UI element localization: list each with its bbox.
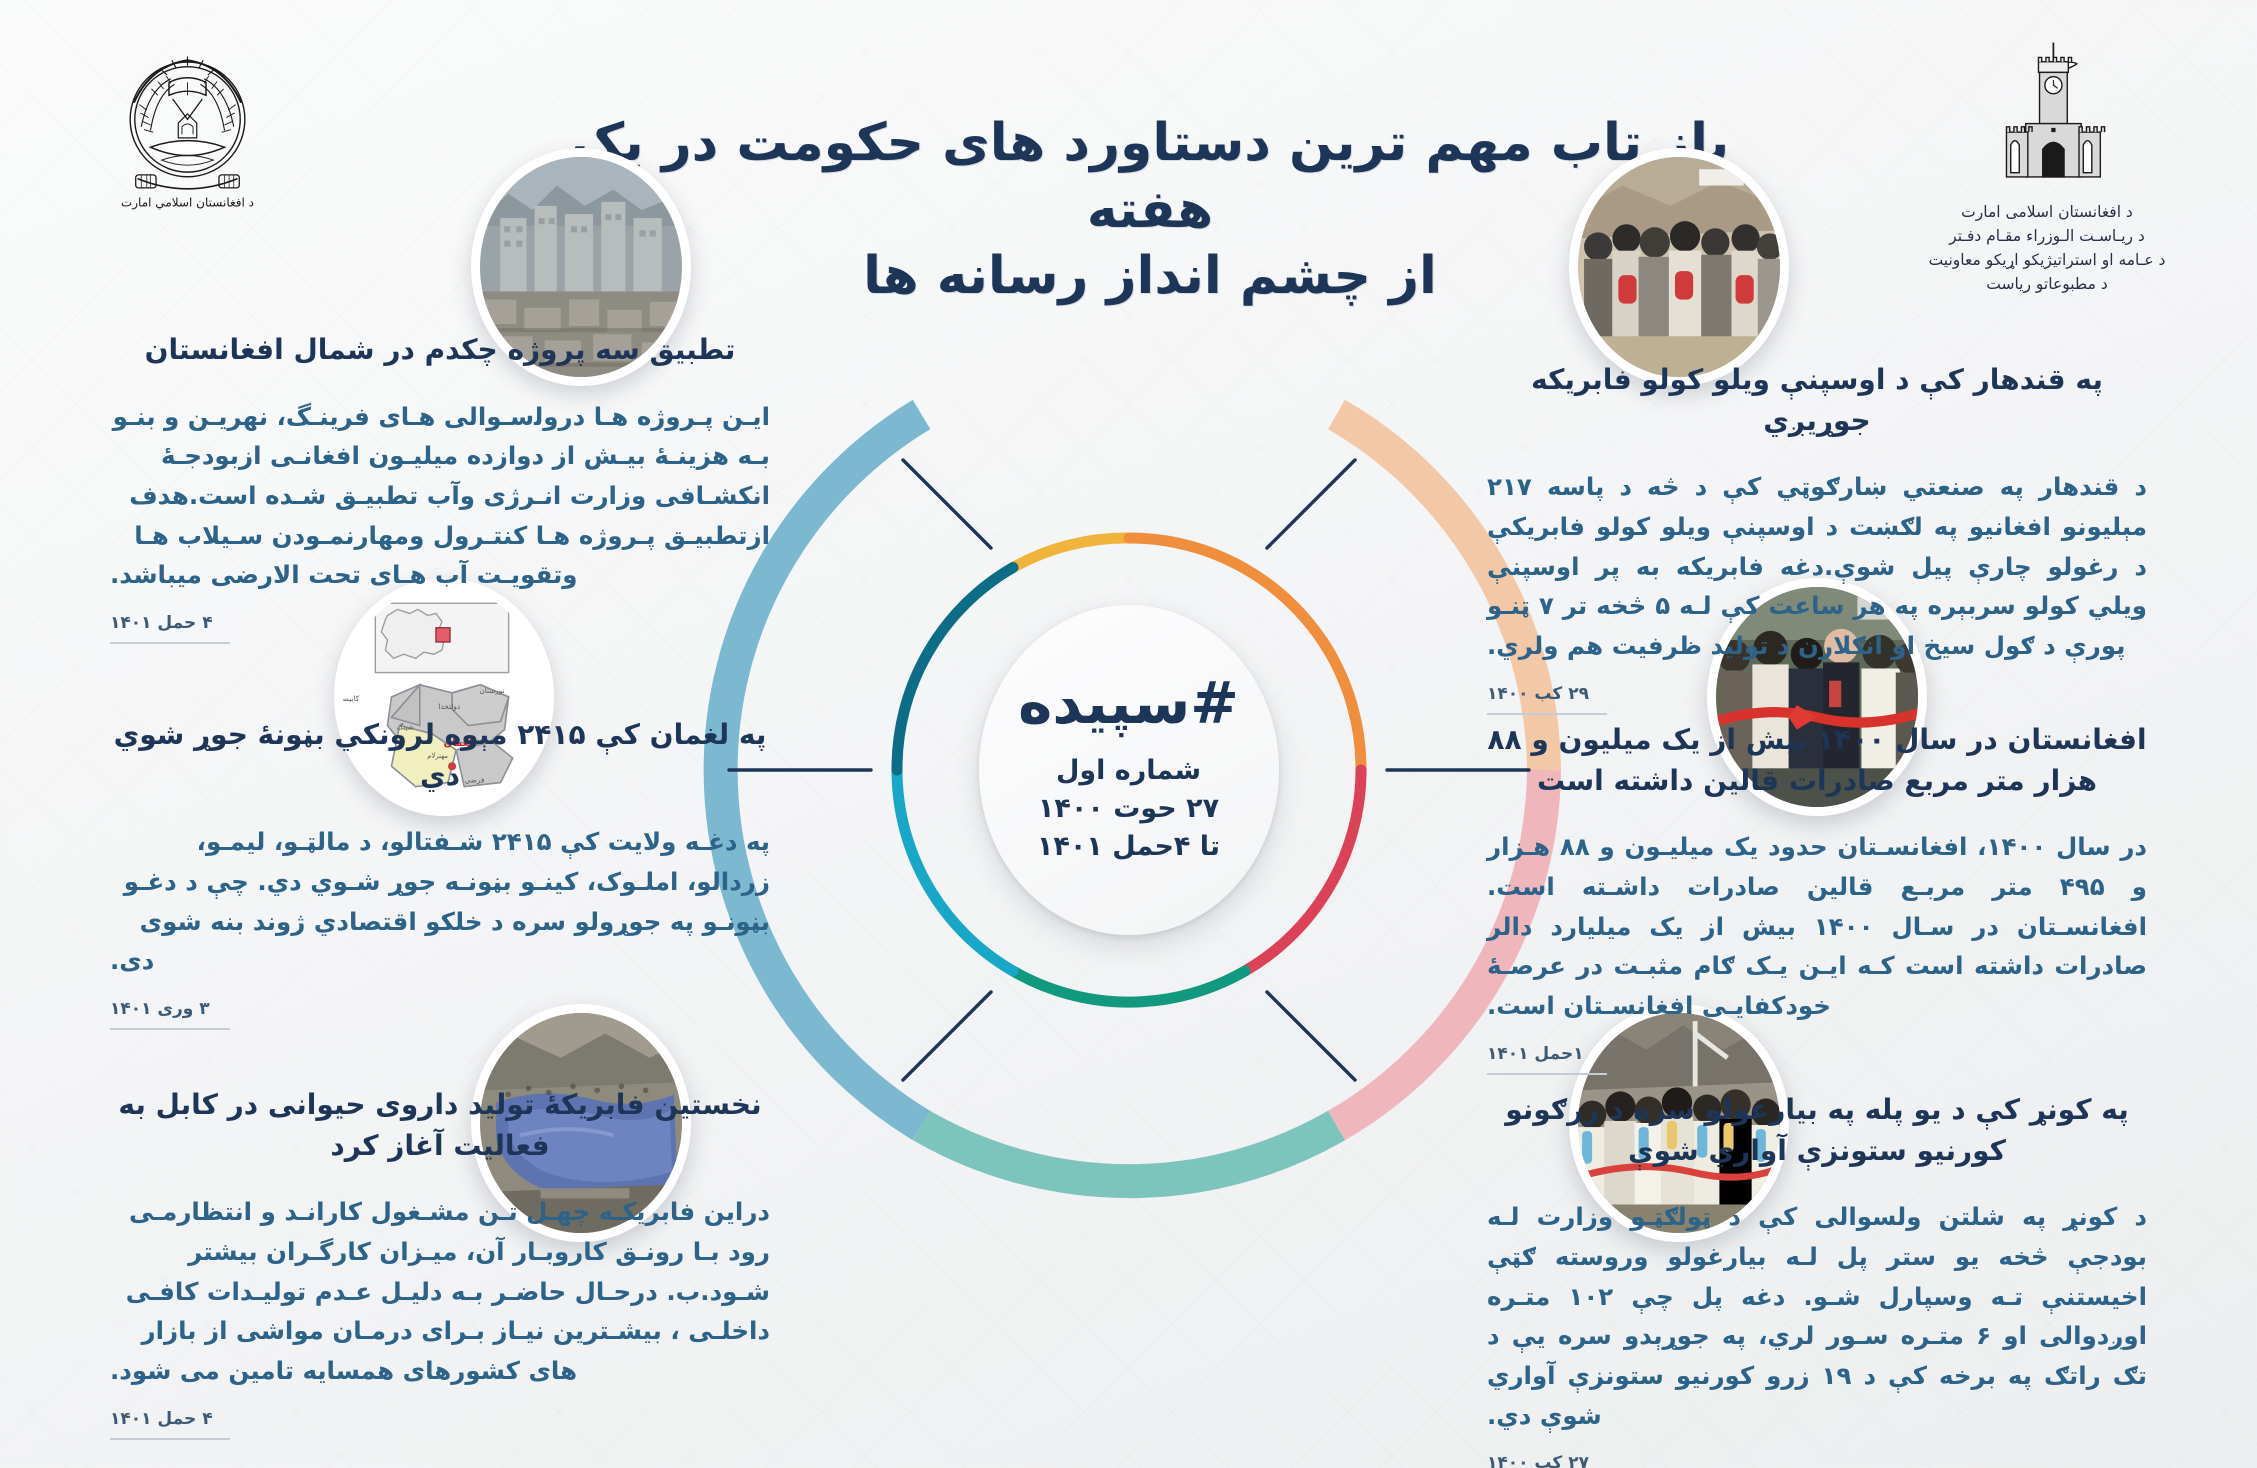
article-date: ۲۹ کب ۱۴۰۰ xyxy=(1487,684,1607,715)
date-to-label: تا ۴حمل ۱۴۰۱ xyxy=(1037,828,1220,866)
article-date: ۴ حمل ۱۴۰۱ xyxy=(110,613,230,644)
article-date: ۴ حمل ۱۴۰۱ xyxy=(110,1409,230,1440)
article-title: نخستین فابریکۀ تولید داروی حیوانی در کاب… xyxy=(110,1085,770,1166)
gov-line-2: د ریـاسـت الـوزراء مقـام دفـتر xyxy=(1897,224,2197,248)
article-title: په قندهار کې د اوسپنې ویلو کولو فابریکه … xyxy=(1487,360,2147,441)
article-top-left: تطبیق سه پروژه چکدم در شمال افغانستان ای… xyxy=(110,330,770,644)
article-date-wrap: ۱حمل ۱۴۰۱ xyxy=(1487,1026,2147,1075)
gov-line-4: د مطبوعاتو ریاست xyxy=(1897,272,2197,296)
svg-text:دولتخدا: دولتخدا xyxy=(438,702,460,711)
article-middle-left: په لغمان کې ۲۴۱۵ مېوه لرونکي بڼونۀ جوړ ش… xyxy=(110,715,770,1030)
wheel-hub: #سپیده شماره اول ۲۷ حوت ۱۴۰۰ تا ۴حمل ۱۴۰… xyxy=(979,605,1279,935)
article-title: په کونړ کې د یو پله په بیارغولو سره د زر… xyxy=(1487,1090,2147,1171)
article-date: ۱حمل ۱۴۰۱ xyxy=(1487,1044,1607,1075)
article-body: دراین فابریکـه چهـل تـن مشـغول کارانـد و… xyxy=(110,1192,770,1390)
svg-text:د افغانستان اسلامي امارت: د افغانستان اسلامي امارت xyxy=(121,195,254,210)
article-title: په لغمان کې ۲۴۱۵ مېوه لرونکي بڼونۀ جوړ ش… xyxy=(110,715,770,796)
article-body: په دغـه ولایت کې ۲۴۱۵ شـفتالو، د مالټـو،… xyxy=(110,822,770,981)
article-date-wrap: ۴ حمل ۱۴۰۱ xyxy=(110,1391,770,1440)
article-date-wrap: ۲۹ کب ۱۴۰۰ xyxy=(1487,666,2147,715)
article-date-wrap: ۳ وری ۱۴۰۱ xyxy=(110,981,770,1030)
article-date: ۲۷ کب ۱۴۰۰ xyxy=(1487,1453,1607,1468)
article-title: تطبیق سه پروژه چکدم در شمال افغانستان xyxy=(110,330,770,371)
government-office-lines: د افغانستان اسلامی امارت د ریـاسـت الـوز… xyxy=(1897,200,2197,296)
article-body: د قندهار په صنعتي ښارګوټي کې د څه د پاسه… xyxy=(1487,467,2147,665)
hashtag-label: #سپیده xyxy=(1018,674,1239,732)
svg-text:نورستان: نورستان xyxy=(479,686,504,695)
article-body: در سال ۱۴۰۰، افغانسـتان حدود یک میلیـون … xyxy=(1487,827,2147,1025)
ceremony-group-photo xyxy=(1578,157,1780,377)
government-office-logo: د افغانستان اسلامی امارت د ریـاسـت الـوز… xyxy=(1897,34,2197,296)
article-middle-right: افغانستان در سال ۱۴۰۰ بیش از یک میلیون و… xyxy=(1487,720,2147,1075)
svg-text:کاپیسا: کاپیسا xyxy=(343,694,360,703)
issue-label: شماره اول xyxy=(1056,752,1201,790)
arg-gate-icon xyxy=(1982,34,2112,194)
article-body: د کونړ په شلتن ولسوالی کې د ټولګټـو وزار… xyxy=(1487,1197,2147,1435)
article-body: ایـن پـروژه هـا دروﻟسـوالی هـای فرینـگ، … xyxy=(110,397,770,595)
afghanistan-islamic-emirate-emblem: د افغانستان اسلامي امارت xyxy=(95,38,280,223)
article-title: افغانستان در سال ۱۴۰۰ بیش از یک میلیون و… xyxy=(1487,720,2147,801)
photo-node-ceremony-group[interactable] xyxy=(1569,148,1789,386)
date-from-label: ۲۷ حوت ۱۴۰۰ xyxy=(1038,790,1219,828)
central-wheel-diagram: #سپیده شماره اول ۲۷ حوت ۱۴۰۰ تا ۴حمل ۱۴۰… xyxy=(619,260,1639,1280)
article-top-right: په قندهار کې د اوسپنې ویلو کولو فابریکه … xyxy=(1487,360,2147,715)
gov-line-3: د عـامه او استراتیژیکو اړیکو معاونیت xyxy=(1897,248,2197,272)
article-date-wrap: ۲۷ کب ۱۴۰۰ xyxy=(1487,1435,2147,1468)
article-bottom-left: نخستین فابریکۀ تولید داروی حیوانی در کاب… xyxy=(110,1085,770,1440)
article-date: ۳ وری ۱۴۰۱ xyxy=(110,999,230,1030)
page-header: د افغانستان اسلامي امارت باز تاب مهم تری… xyxy=(0,0,2257,300)
article-bottom-right: په کونړ کې د یو پله په بیارغولو سره د زر… xyxy=(1487,1090,2147,1468)
gov-line-1: د افغانستان اسلامی امارت xyxy=(1897,200,2197,224)
article-date-wrap: ۴ حمل ۱۴۰۱ xyxy=(110,595,770,644)
